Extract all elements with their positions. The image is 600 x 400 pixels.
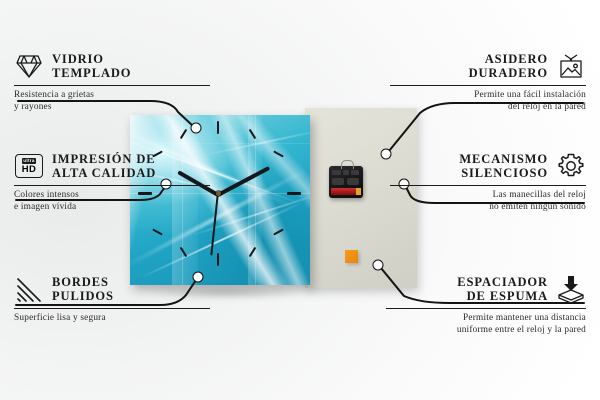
gear-icon	[556, 152, 586, 180]
infographic-stage: VIDRIO TEMPLADO Resistencia a grietas y …	[0, 0, 600, 400]
feature-vidrio-templado: VIDRIO TEMPLADO Resistencia a grietas y …	[14, 52, 210, 114]
feature-bordes-pulidos: BORDES PULIDOS Superficie lisa y segura	[14, 275, 210, 325]
hour-tick	[287, 192, 301, 195]
second-hand	[211, 194, 219, 256]
diamond-icon	[14, 52, 44, 80]
feature-mecanismo-silencioso: MECANISMO SILENCIOSO Las manecillas del …	[390, 152, 586, 214]
divider	[390, 85, 586, 87]
hour-tick	[217, 253, 219, 266]
feature-title-line1: ASIDERO	[469, 52, 548, 66]
feature-title-line1: BORDES	[52, 275, 114, 289]
feature-title-line1: VIDRIO	[52, 52, 131, 66]
feature-title-line2: DE ESPUMA	[457, 289, 548, 303]
divider	[386, 308, 586, 310]
hands-hub	[216, 191, 221, 196]
divider	[14, 185, 210, 187]
feature-title-line2: ALTA CALIDAD	[52, 166, 156, 180]
callout-node-espaciador[interactable]	[373, 260, 384, 271]
feature-espaciador-de-espuma: ESPACIADOR DE ESPUMA Permite mantener un…	[386, 275, 586, 337]
feature-desc: Colores intensos e imagen vívida	[14, 190, 210, 214]
hd-label: HD	[22, 165, 37, 175]
divider	[14, 308, 210, 310]
hanging-hook-icon	[341, 160, 354, 169]
press-down-pad-icon	[556, 275, 586, 303]
feature-desc: Resistencia a grietas y rayones	[14, 90, 210, 114]
hour-tick	[273, 150, 284, 157]
feature-title-line1: MECANISMO	[459, 152, 548, 166]
hour-tick	[152, 228, 163, 235]
divider	[390, 185, 586, 187]
feature-title-line2: DURADERO	[469, 66, 548, 80]
feature-title-line2: SILENCIOSO	[459, 166, 548, 180]
feature-desc: Superficie lisa y segura	[14, 313, 210, 325]
feature-desc: Las manecillas del reloj no emiten ningú…	[390, 190, 586, 214]
hour-tick	[273, 228, 284, 235]
clock-mechanism	[329, 166, 363, 198]
feature-impresion-hd: ultra HD IMPRESIÓN DE ALTA CALIDAD Color…	[14, 152, 210, 214]
ultra-hd-icon: ultra HD	[14, 152, 44, 180]
polished-edge-icon	[14, 275, 44, 303]
feature-title-line1: ESPACIADOR	[457, 275, 548, 289]
feature-desc: Permite mantener una distancia uniforme …	[386, 313, 586, 337]
divider	[14, 85, 210, 87]
foam-spacer	[345, 250, 358, 263]
feature-title-line1: IMPRESIÓN DE	[52, 152, 156, 166]
feature-asidero-duradero: ASIDERO DURADERO Permite una fácil insta…	[390, 52, 586, 114]
feature-desc: Permite una fácil instalación del reloj …	[390, 90, 586, 114]
callout-node-vidrio-templado[interactable]	[191, 123, 202, 134]
picture-frame-hook-icon	[556, 52, 586, 80]
feature-title-line2: PULIDOS	[52, 289, 114, 303]
feature-title-line2: TEMPLADO	[52, 66, 131, 80]
battery	[331, 188, 360, 195]
hour-tick	[217, 121, 219, 134]
